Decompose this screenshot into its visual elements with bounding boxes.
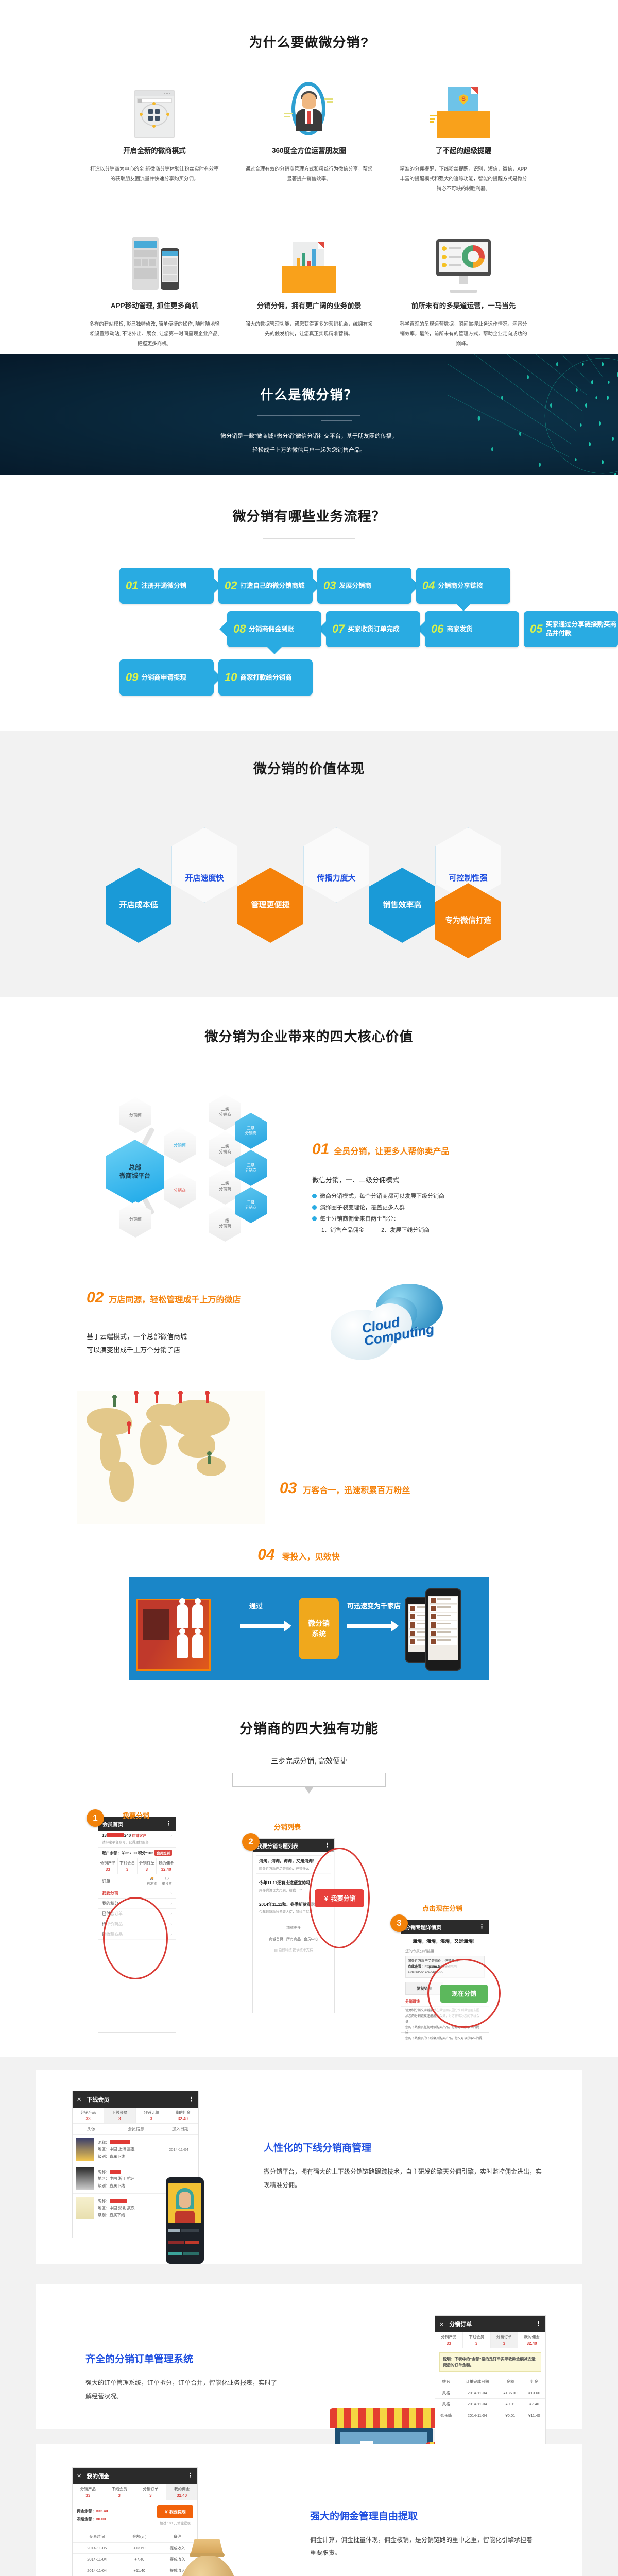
step-number: 10 [225,672,237,683]
close-icon[interactable]: ✕ [439,2321,444,2328]
value-heading: 万客合一，迅速积累百万粉丝 [303,1483,410,1496]
orders-phone-wrap: ✕ 分销订单 ⋮ 分销产品33 下线会员3 分销订单3 我的佣金32.40 说明… [330,2315,546,2403]
stat-cell[interactable]: 分销订单3 [136,2108,167,2123]
value-number: 02 [87,1290,104,1306]
functions-subtitle: 三步完成分销, 高效便捷 [0,1756,618,1766]
balance-value: ¥32.40 [96,2509,108,2513]
step-badge-label-3: 点击现在分销 [422,1903,462,1913]
banner-right-tag: 可迅速变为千家店 [347,1601,401,1611]
process-row-1: 01 注册开通微分销 02 打造自己的微分销商城 03 发展分销商 04 分销商… [119,568,618,604]
value-hex-group: 开店成本低 开店速度快 管理更便捷 传播力度大 销售效率高 可控制性强 专为微信… [0,822,618,961]
tree-node-hq: 总部 微商城平台 [106,1140,164,1205]
highlight-oval-1 [103,1897,168,1979]
value-hex-4: 传播力度大 [303,827,369,903]
step-label: 商家发货 [447,625,472,634]
stat-cell[interactable]: 分销产品33 [73,2108,104,2123]
commission-inner: ✕ 我的佣金 ⋮ 分销产品33 下线会员3 分销订单3 我的佣金32.40 佣金… [36,2444,582,2576]
distributor-tree-diagram: 分销商 总部 微商城平台 分销商 分销商 分销商 二级 分销商 二级 分销商 二… [77,1092,294,1247]
value-number: 03 [280,1481,297,1496]
step-label: 分销商申请提现 [141,673,186,682]
value-bullet: 每个分销商佣金来自两个部分： [312,1213,449,1225]
tree-node-distributor-1: 分销商 [119,1097,151,1133]
phone1-order-row[interactable]: 订单 🚚已发货 ◯退换货 [98,1874,176,1888]
hex-label: 销售效率高 [380,901,424,910]
process-step-09[interactable]: 09 分销商申请提现 [119,659,214,696]
step-badge-1: 1 [87,1809,104,1827]
money-bag-icon: $ [175,2539,242,2576]
page-root: 为什么要做微分销? [0,0,618,2576]
value-hex-1: 开店成本低 [106,868,171,943]
banner-arrow-2-icon [347,1624,391,1628]
phone3-header: 分销专题详情页 ⋮ [401,1920,489,1934]
why-row-1: 开启全新的微商模式 打造以分销商为中心的全 新微商分销体验让粉丝实时有效率的获取… [0,76,618,194]
downline-body: 微分销平台，拥有强大的上下级分销链路跟踪技术，自主研发的擎天分佣引擎，实时监控佣… [264,2165,546,2192]
stat-cell[interactable]: 我的佣金32.40 [166,2484,197,2500]
why-card-body: 科学直观的呈现运营数据，瞬间掌握业务运作情况，洞察分销效率。最终，前所未有的管理… [398,319,529,349]
process-step-06[interactable]: 06 商家发货 [425,611,519,647]
commission-text: 强大的佣金管理自由提取 佣金计算，佣金批量体现，佣金核销，是分销链路的重中之重，… [288,2467,546,2576]
tree-node-label: 总部 微商城平台 [119,1164,150,1180]
bullet-dot-icon [312,1205,317,1210]
stat-cell[interactable]: 下线会员3 [104,2484,135,2500]
value-number: 04 [257,1547,274,1563]
why-card-4: APP移动管理, 抓住更多商机 多样的建站模板, 彰显独特修改, 简单便捷的操作… [77,231,232,349]
orders-note: 说明：下表中的"金额"指的是订单实际收款金额减去运费后的订单金额。 [439,2352,541,2372]
core-value-04-heading-row: 04 零投入，见效快 [257,1547,339,1563]
table-row[interactable]: 风格 2014-11-04 ¥0.01 ¥7.40 [435,2399,545,2410]
why-card-heading: APP移动管理, 抓住更多商机 [89,300,220,310]
downline-stats: 分销产品33 下线会员3 分销订单3 我的佣金32.40 [73,2108,198,2124]
phone3-product-title: 海淘，海淘，海淘，又是海淘！ [401,1934,489,1948]
truck-icon: 🚚 [150,1877,154,1880]
downline-inner: ✕ 下线会员 ⋮ 分销产品33 下线会员3 分销订单3 我的佣金32.40 头像… [36,2070,582,2264]
value-hex-7: 专为微信打造 [435,883,501,958]
tree-node-label: 二级 分销商 [219,1107,231,1118]
value-04-banner: 通过 微分销 系统 可迅速变为千家店 [129,1577,489,1680]
hero-content: 什么是微分销？ 微分销是一款“微商城+微分销”微信分销社交平台，基于朋友圈的传播… [0,354,618,456]
step-label: 分销商分享链接 [438,582,483,590]
value-bullet: 演绎圈子裂变理论，覆盖更多人群 [312,1202,449,1213]
phone1-account-prefix: 13 [102,1833,107,1838]
phone1-account-tail: 240 [124,1833,131,1838]
orders-body: 强大的订单管理系统，订单拆分，订单合并，智能化业务报表，实时了解经营状况。 [85,2377,281,2403]
close-icon[interactable]: ✕ [77,2096,81,2103]
why-card-heading: 360度全方位运营朋友圈 [243,145,375,155]
commission-header: ✕ 我的佣金 ⋮ [73,2468,197,2484]
step-label: 买家通过分享链接购买商品并付款 [545,620,618,638]
core-value-02-text: 02 万店同源，轻松管理成千上万的微店 基于云端模式，一个总部微信商城 可以演变… [87,1280,329,1357]
orders-text: 齐全的分销订单管理系统 强大的订单管理系统，订单拆分，订单合并，智能化业务报表，… [72,2315,330,2403]
phone1-account-row[interactable]: 13240 店铺客户 › 请绑定平台账号，获得更好服务 [98,1831,176,1848]
avatar [76,2197,94,2219]
return-icon: ◯ [165,1877,169,1880]
commission-heading: 强大的佣金管理自由提取 [310,2509,546,2522]
orders-inner: 齐全的分销订单管理系统 强大的订单管理系统，订单拆分，订单合并，智能化业务报表，… [36,2284,582,2429]
phone2-title: 我要分销专题列表 [257,1842,298,1850]
phone1-account-sub: 请绑定平台账号，获得更好服务 [102,1839,172,1844]
process-rows: 01 注册开通微分销 02 打造自己的微分销商城 03 发展分销商 04 分销商… [0,568,618,696]
step-label: 注册开通微分销 [141,582,186,590]
process-step-02[interactable]: 02 打造自己的微分销商城 [218,568,313,604]
tree-node-label: 二级 分销商 [219,1218,231,1229]
step-label: 打造自己的微分销商城 [240,582,304,590]
table-row[interactable]: 张玉峰 2014-11-04 ¥0.01 ¥11.40 [435,2410,545,2421]
withdraw-button[interactable]: ￥ 我要提现 [157,2505,193,2518]
value-title: 微分销的价值体现 [0,758,618,777]
hero-divider-small [321,420,352,421]
nav-link[interactable]: 商城首页 [269,1938,283,1941]
step-badge-label-1: 我要分销 [123,1810,149,1820]
orders-heading: 齐全的分销订单管理系统 [85,2351,330,2365]
three-step-mockups: 1 我要分销 会员首页 ⋮ 13240 店铺客户 › 请绑定平台账号，获得更好服… [0,1804,618,2046]
value-subheading: 微信分销，一、二级分佣模式 [312,1175,449,1184]
step-label: 发展分销商 [339,582,371,590]
step-label: 分销商佣金到账 [249,625,294,634]
why-row-2: APP移动管理, 抓住更多商机 多样的建站模板, 彰显独特修改, 简单便捷的操作… [0,231,618,349]
value-number: 01 [312,1142,329,1157]
stat-cell[interactable]: 分销产品33 [73,2484,104,2500]
stat-cell[interactable]: 我的佣金32.40 [157,1858,176,1874]
stat-cell[interactable]: 下线会员3 [463,2332,491,2348]
tree-node-label: 二级 分销商 [219,1181,231,1192]
hex-label: 可控制性强 [445,874,490,884]
downline-text: 人性化的下线分销商管理 微分销平台，拥有强大的上下级分销链路跟踪技术，自主研发的… [237,2091,546,2238]
commission-phone-wrap: ✕ 我的佣金 ⋮ 分销产品33 下线会员3 分销订单3 我的佣金32.40 佣金… [72,2467,288,2576]
section-why: 为什么要做微分销? [0,0,618,354]
section-hero: 什么是微分销？ 微分销是一款“微商城+微分销”微信分销社交平台，基于朋友圈的传播… [0,354,618,475]
process-step-04[interactable]: 04 分销商分享链接 [416,568,510,604]
highlight-oval-3: 现在分销 [427,1959,501,2028]
section-value: 微分销的价值体现 开店成本低 开店速度快 管理更便捷 传播力度大 销售效率高 可… [0,731,618,997]
table-row[interactable]: 昵称： 地区：中国 上海 嘉定 级别：直属下线 2014-11-04 [73,2135,198,2164]
cloud-computing-icon: Cloud Computing [329,1280,447,1370]
balance-label: 佣金余额： [77,2509,96,2513]
phone-device-illustration [166,2177,204,2264]
commission-stats: 分销产品33 下线会员3 分销订单3 我的佣金32.40 [73,2484,197,2500]
step-badge-label-2: 分销列表 [274,1822,301,1832]
process-step-10[interactable]: 10 商家打款给分销商 [218,659,313,696]
tree-node-label: 三级 分销商 [245,1200,257,1210]
stat-cell[interactable]: 下线会员3 [104,2108,135,2123]
browser-network-icon [89,76,220,138]
core-divider [263,1059,355,1059]
banner-left-tag: 通过 [249,1601,263,1611]
section-orders: 齐全的分销订单管理系统 强大的订单管理系统，订单拆分，订单合并，智能化业务报表，… [0,2277,618,2436]
why-card-heading: 了不起的超级提醒 [398,145,529,155]
avatar [76,2138,94,2161]
hero-title: 什么是微分销？ [0,385,618,403]
value-heading: 全员分销，让更多人帮你卖产品 [334,1144,449,1157]
phone3-title: 分销专题详情页 [405,1923,441,1931]
process-step-05[interactable]: 05 买家通过分享链接购买商品并付款 [524,611,618,647]
process-title: 微分销有哪些业务流程？ [0,506,618,525]
phone1-balance-row: 账户余额：￥357.00 积分:102 会员签到 [98,1848,176,1858]
phone1-title: 会员首页 [102,1820,123,1828]
value-divider [263,791,355,791]
why-card-body: 强大的数据管理功能，帮您获得更多的营销机会，统拥有领先的触发机制，让您真正实现精… [243,319,375,339]
world-map-icon [77,1391,265,1524]
orders-stats: 分销产品33 下线会员3 分销订单3 我的佣金32.40 [435,2332,545,2348]
downline-title: 下线会员 [87,2095,109,2104]
hex-label: 专为微信打造 [442,916,494,926]
frozen-value: ¥0.00 [96,2517,106,2521]
envelope-chart-icon [243,231,375,293]
why-card-3: S 了不起的超级提醒 精准的分佣提醒，下线粉丝提醒，识别，短信，微信，APP丰富… [386,76,541,194]
banner-phone-front [425,1588,461,1671]
process-step-07[interactable]: 07 买家收货订单完成 [326,611,420,647]
share-now-button[interactable]: 现在分销 [440,1985,488,2003]
core-value-03: 03 万客合一，迅速积累百万粉丝 [0,1391,618,1524]
brace-icon [232,1773,386,1787]
kebab-menu-icon[interactable]: ⋮ [166,1822,171,1826]
bullet-dot-icon [312,1194,317,1198]
functions-title: 分销商的四大独有功能 [0,1718,618,1737]
value-bullet: 微商分销模式，每个分销商都可以发展下级分销商 [312,1191,449,1202]
step-number: 01 [126,580,138,591]
value-body-line-2: 可以演变出成千上万个分销子店 [87,1344,329,1357]
downline-heading: 人性化的下线分销商管理 [264,2140,546,2154]
core-title: 微分销为企业带来的四大核心价值 [0,1026,618,1045]
value-hex-5: 销售效率高 [369,868,435,943]
section-commission: ✕ 我的佣金 ⋮ 分销产品33 下线会员3 分销订单3 我的佣金32.40 佣金… [0,2436,618,2576]
person-360-icon [243,76,375,138]
retail-store-photo [136,1599,211,1671]
envelope-super-icon: S [398,76,529,138]
stat-cell[interactable]: 分销产品33 [435,2332,463,2348]
section-core-values: 微分销为企业带来的四大核心价值 分销商 总部 微商城平台 分销商 分销商 分销商… [0,997,618,1680]
value-body-line-1: 基于云端模式，一个总部微信商城 [87,1330,329,1344]
orders-table: 姓名 订单完成日期 金额 佣金 风格 2014-11-04 ¥136.00 ¥1… [435,2376,545,2421]
value-hex-2: 开店速度快 [171,827,237,903]
phone-mock-orders: ✕ 分销订单 ⋮ 分销产品33 下线会员3 分销订单3 我的佣金32.40 说明… [435,2315,546,2457]
banner-system-pill: 微分销 系统 [299,1598,339,1659]
table-row[interactable]: 风格 2014-11-04 ¥136.00 ¥13.60 [435,2387,545,2399]
why-card-body: 通过合理有效的分销商管理方式和粉丝行为微信分享，帮您显著提升销售效率。 [243,164,375,184]
why-card-body: 打造以分销商为中心的全 新微商分销体验让粉丝实时有效率的获取朋友圈流量并快速分享… [89,164,220,184]
step-number: 09 [126,672,138,683]
stat-cell[interactable]: 下线会员3 [118,1858,138,1874]
section-downline: ✕ 下线会员 ⋮ 分销产品33 下线会员3 分销订单3 我的佣金32.40 头像… [0,2057,618,2277]
hero-line-2: 轻松成千上万的微信用户一起为您销售产品。 [0,445,618,456]
commission-title: 我的佣金 [87,2472,109,2480]
step-number: 06 [431,623,443,635]
step-badge-3: 3 [390,1914,408,1932]
step-badge-2: 2 [242,1833,260,1851]
why-card-heading: 前所未有的多渠道运营，一马当先 [398,300,529,310]
section-functions: 分销商的四大独有功能 三步完成分销, 高效便捷 1 我要分销 会员首页 ⋮ 13… [0,1680,618,2057]
stat-cell[interactable]: 分销订单3 [138,1858,157,1874]
tree-node-distributor-2: 分销商 [164,1127,196,1163]
value-subitems: 1、销售产品佣金 2、发展下线分销商 [312,1225,449,1236]
why-card-body: 精准的分佣提醒，下线粉丝提醒，识别，短信，微信，APP丰富的提醒模式和强大的追踪… [398,164,529,194]
step-label: 商家打款给分销商 [240,673,291,682]
stat-cell[interactable]: 分销产品33 [98,1858,118,1874]
stat-cell[interactable]: 分销订单3 [491,2332,519,2348]
phone1-balance: 账户余额：￥357.00 积分:102 [102,1850,153,1856]
table-header-row: 姓名 订单完成日期 金额 佣金 [435,2376,545,2387]
value-hex-3: 管理更便捷 [237,868,303,943]
why-card-body: 多样的建站模板, 彰显独特修改, 简单便捷的操作, 随时随地轻松设置移动站, 不… [89,319,220,349]
phone3-link-label: 您的专属分销链接 [401,1948,489,1954]
mobile-app-icon [89,231,220,293]
process-row-2: 05 买家通过分享链接购买商品并付款 06 商家发货 07 买家收货订单完成 0… [119,611,618,647]
phone2-credit: 由 启博科技 提供技术支持 [253,1947,334,1952]
process-step-08[interactable]: 08 分销商佣金到账 [227,611,321,647]
kebab-menu-icon[interactable]: ⋮ [536,2323,541,2326]
tree-node-label: 二级 分销商 [219,1144,231,1155]
process-step-01[interactable]: 01 注册开通微分销 [119,568,214,604]
nav-link[interactable]: 会员中心 [304,1938,318,1941]
stat-cell[interactable]: 我的佣金32.40 [167,2108,198,2123]
avatar [76,2167,94,2190]
value-heading: 万店同源，轻松管理成千上万的微店 [109,1293,241,1305]
close-icon[interactable]: ✕ [77,2472,81,2479]
process-row-3: 09 分销商申请提现 10 商家打款给分销商 [119,659,618,696]
downline-col-headers: 头像 会员信息 加入日期 [73,2124,198,2135]
commission-balance-block: 佣金余额：¥32.40 冻结金额：¥0.00 ￥ 我要提现 超过 100 元才能… [73,2500,197,2531]
process-divider [263,538,355,539]
kebab-menu-icon[interactable]: ⋮ [188,2098,194,2102]
core-value-02: 02 万店同源，轻松管理成千上万的微店 基于云端模式，一个总部微信商城 可以演变… [0,1280,618,1370]
orders-header: ✕ 分销订单 ⋮ [435,2316,545,2332]
tree-node-label: 三级 分销商 [245,1163,257,1173]
why-card-heading: 开启全新的微商模式 [89,145,220,155]
hex-label: 管理更便捷 [248,901,293,910]
hero-divider [257,415,360,416]
commission-body: 佣金计算，佣金批量体现，佣金核销，是分销链路的重中之重，智能化引擎承担着重要职责… [310,2534,537,2561]
kebab-menu-icon[interactable]: ⋮ [324,1844,330,1848]
tree-node-label: 三级 分销商 [245,1126,257,1136]
downline-phone-wrap: ✕ 下线会员 ⋮ 分销产品33 下线会员3 分销订单3 我的佣金32.40 头像… [72,2091,237,2238]
why-card-heading: 分销分佣，拥有更广阔的业务前景 [243,300,375,310]
banner-pill-label: 微分销 系统 [308,1618,330,1639]
frozen-label: 冻结金额： [77,2517,96,2521]
stat-cell[interactable]: 我的佣金32.40 [518,2332,545,2348]
hex-label: 开店成本低 [116,901,161,910]
hero-line-1: 微分销是一款“微商城+微分销”微信分销社交平台，基于朋友圈的传播， [0,431,618,443]
tree-node-distributor-4: 分销商 [164,1173,196,1209]
tree-node-label: 分销商 [129,1217,142,1222]
tree-node-label: 分销商 [174,1188,186,1193]
core-value-01-text: 01 全员分销，让更多人帮你卖产品 微信分销，一、二级分佣模式 微商分销模式，每… [294,1092,449,1247]
hex-label: 开店速度快 [182,874,227,884]
step-number: 05 [530,623,542,635]
step-number: 08 [233,623,246,635]
phone1-stats: 分销产品33 下线会员3 分销订单3 我的佣金32.40 [98,1858,176,1874]
why-card-6: 前所未有的多渠道运营，一马当先 科学直观的呈现运营数据，瞬间掌握业务运作情况，洞… [386,231,541,349]
value-heading: 零投入，见效快 [282,1550,340,1562]
section-process: 微分销有哪些业务流程？ 01 注册开通微分销 02 打造自己的微分销商城 03 … [0,475,618,731]
stat-cell[interactable]: 分销订单3 [135,2484,167,2500]
monitor-report-icon [398,231,529,293]
step-number: 02 [225,580,237,591]
step-number: 03 [323,580,336,591]
tree-node-label: 分销商 [129,1113,142,1118]
bullet-dot-icon [312,1216,317,1221]
kebab-menu-icon[interactable]: ⋮ [479,1925,485,1929]
process-step-03[interactable]: 03 发展分销商 [317,568,411,604]
phone1-account-tag: 店铺客户 [132,1834,147,1838]
phone2-header: 我要分销专题列表 ⋮ [253,1839,334,1852]
step-number: 07 [332,623,345,635]
banner-arrow-1-icon [240,1624,284,1628]
nav-link[interactable]: 所有商品 [286,1938,301,1941]
page-title: 为什么要做微分销? [0,32,618,51]
step-label: 买家收货订单完成 [348,625,399,634]
downline-header: ✕ 下线会员 ⋮ [73,2091,198,2108]
share-now-cta-button[interactable]: ￥ 我要分销 [315,1889,364,1907]
core-value-03-text: 03 万客合一，迅速积累百万粉丝 [265,1419,410,1496]
why-card-2: 360度全方位运营朋友圈 通过合理有效的分销商管理方式和粉丝行为微信分享，帮您显… [232,76,386,194]
highlight-oval-2: ￥ 我要分销 [309,1848,370,1948]
kebab-menu-icon[interactable]: ⋮ [187,2474,193,2478]
withdraw-hint: 超过 100 元才能提现 [157,2520,193,2526]
hex-label: 传播力度大 [314,874,358,884]
why-card-1: 开启全新的微商模式 打造以分销商为中心的全 新微商分销体验让粉丝实时有效率的获取… [77,76,232,194]
phone1-checkin-button[interactable]: 会员签到 [154,1850,172,1856]
core-value-01: 分销商 总部 微商城平台 分销商 分销商 分销商 二级 分销商 二级 分销商 二… [0,1092,618,1247]
step-number: 04 [422,580,435,591]
orders-title: 分销订单 [449,2320,472,2328]
why-card-5: 分销分佣，拥有更广阔的业务前景 强大的数据管理功能，帮您获得更多的营销机会，统拥… [232,231,386,349]
core-value-04: 04 零投入，见效快 通过 微分销 系统 可迅速变为千家店 [0,1547,618,1680]
